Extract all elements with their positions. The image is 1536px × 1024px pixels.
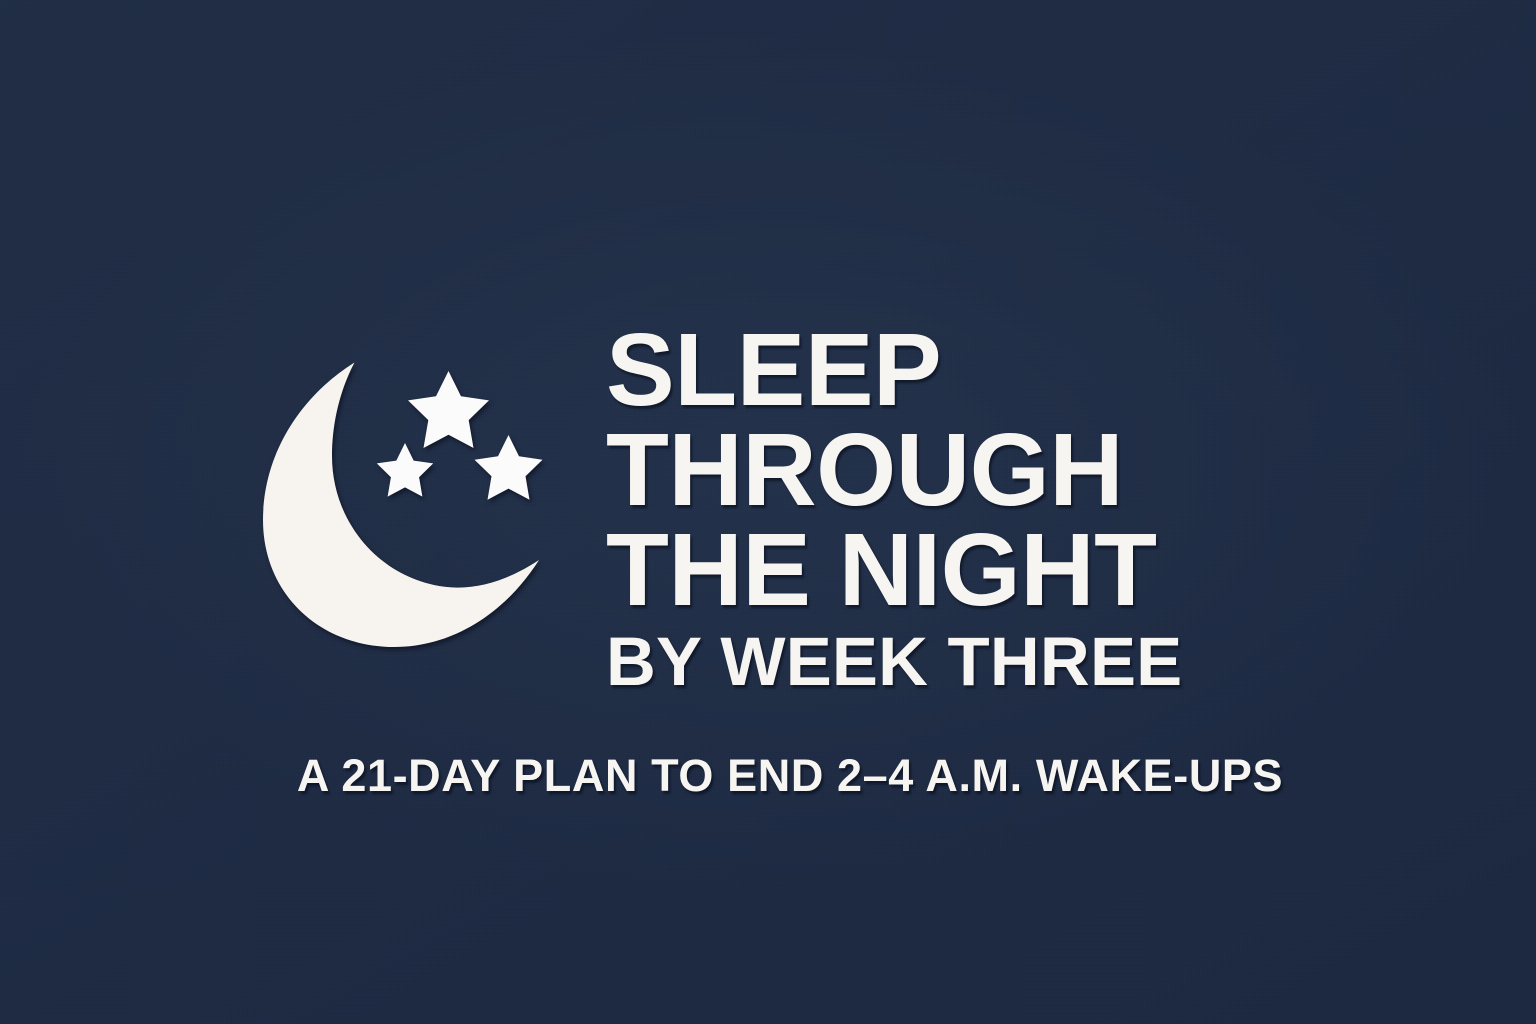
subtitle: A 21-DAY PLAN TO END 2–4 A.M. WAKE-UPS: [0, 748, 1536, 804]
star-medium-shape: [475, 435, 543, 500]
headline-line-3: THE NIGHT: [606, 520, 1306, 620]
poster-canvas: SLEEP THROUGH THE NIGHT BY WEEK THREE A …: [0, 0, 1536, 1024]
headline-line-2: THROUGH: [606, 420, 1306, 520]
headline-line-1: SLEEP: [606, 320, 1306, 420]
headline: SLEEP THROUGH THE NIGHT BY WEEK THREE: [606, 320, 1306, 704]
subtitle-text: A 21-DAY PLAN TO END 2–4 A.M. WAKE-UPS: [297, 748, 1283, 804]
star-large-shape: [408, 371, 489, 448]
star-small-shape: [377, 443, 433, 497]
crescent-moon-and-stars-icon: [258, 352, 550, 652]
hero-block: SLEEP THROUGH THE NIGHT BY WEEK THREE: [0, 0, 1536, 1024]
crescent-moon-shape: [263, 363, 539, 648]
headline-line-4: BY WEEK THREE: [606, 620, 1306, 704]
